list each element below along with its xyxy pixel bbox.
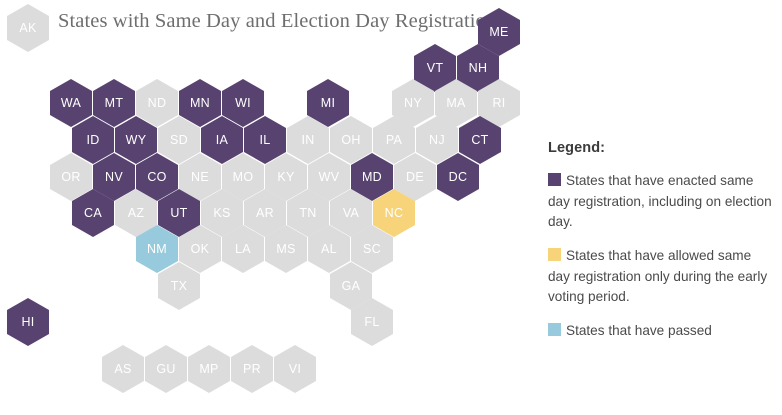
hex-label-id: ID: [86, 134, 99, 147]
legend-heading: Legend:: [548, 140, 774, 156]
hex-label-md: MD: [362, 171, 382, 184]
hex-ak[interactable]: AK: [7, 4, 49, 52]
hex-label-or: OR: [61, 171, 80, 184]
hex-label-mp: MP: [199, 363, 218, 376]
hex-label-pr: PR: [243, 363, 261, 376]
hex-label-la: LA: [235, 243, 251, 256]
hex-label-ga: GA: [342, 280, 361, 293]
legend-swatch-early-voting: [548, 248, 561, 261]
hex-label-ct: CT: [471, 134, 488, 147]
hex-label-nm: NM: [147, 243, 167, 256]
hex-label-hi: HI: [21, 316, 34, 329]
hex-pr[interactable]: PR: [231, 345, 273, 393]
legend-item-2: States that have allowed same day regist…: [548, 246, 774, 308]
hex-label-nj: NJ: [429, 134, 445, 147]
hex-label-as: AS: [114, 363, 131, 376]
hex-label-wv: WV: [319, 171, 340, 184]
hex-label-mo: MO: [233, 171, 254, 184]
hex-label-co: CO: [147, 171, 166, 184]
hex-label-ia: IA: [216, 134, 228, 147]
legend-item-label-1: States that have enacted same day regist…: [548, 173, 772, 229]
hex-label-pa: PA: [386, 134, 402, 147]
hex-tile-map: AKMEVTNHWAMTNDMNWIMINYMARIIDWYSDIAILINOH…: [0, 0, 530, 415]
hex-label-wa: WA: [61, 97, 81, 110]
hex-as[interactable]: AS: [102, 345, 144, 393]
hex-label-al: AL: [321, 243, 337, 256]
hex-label-wi: WI: [235, 97, 251, 110]
hex-label-vi: VI: [289, 363, 301, 376]
hex-label-ca: CA: [84, 207, 102, 220]
hex-mp[interactable]: MP: [188, 345, 230, 393]
hex-label-sd: SD: [170, 134, 188, 147]
legend-item-1: States that have enacted same day regist…: [548, 171, 774, 233]
hex-label-az: AZ: [128, 207, 145, 220]
hex-label-nv: NV: [105, 171, 123, 184]
hex-hi[interactable]: HI: [7, 298, 49, 346]
hex-label-oh: OH: [341, 134, 360, 147]
legend-item-3: States that have passed: [548, 321, 774, 342]
hex-label-il: IL: [259, 134, 270, 147]
hex-label-nd: ND: [148, 97, 167, 110]
hex-label-wy: WY: [126, 134, 147, 147]
hex-label-ny: NY: [404, 97, 422, 110]
hex-label-ri: RI: [492, 97, 505, 110]
hex-label-mi: MI: [321, 97, 336, 110]
hex-label-in: IN: [301, 134, 314, 147]
hex-label-ks: KS: [213, 207, 230, 220]
hex-label-ms: MS: [276, 243, 295, 256]
hex-label-nc: NC: [385, 207, 404, 220]
hex-label-nh: NH: [469, 62, 488, 75]
hex-label-dc: DC: [449, 171, 468, 184]
hex-label-ne: NE: [191, 171, 209, 184]
hex-label-sc: SC: [363, 243, 381, 256]
hex-label-fl: FL: [364, 316, 379, 329]
hex-label-tn: TN: [299, 207, 316, 220]
legend: Legend: States that have enacted same da…: [548, 140, 774, 355]
legend-swatch-passed: [548, 323, 561, 336]
legend-item-label-2: States that have allowed same day regist…: [548, 248, 767, 304]
hex-label-ky: KY: [277, 171, 294, 184]
hex-label-ar: AR: [256, 207, 274, 220]
hex-label-me: ME: [489, 26, 508, 39]
hex-vi[interactable]: VI: [274, 345, 316, 393]
hex-label-tx: TX: [171, 280, 188, 293]
hex-label-mn: MN: [190, 97, 210, 110]
hex-label-gu: GU: [156, 363, 175, 376]
legend-item-label-3: States that have passed: [566, 323, 712, 338]
hex-label-ut: UT: [170, 207, 187, 220]
hex-label-mt: MT: [105, 97, 124, 110]
hex-label-vt: VT: [427, 62, 444, 75]
legend-item-list: States that have enacted same day regist…: [548, 171, 774, 342]
hex-label-va: VA: [343, 207, 359, 220]
cartogram-page: States with Same Day and Election Day Re…: [0, 0, 782, 415]
hex-wa[interactable]: WA: [50, 79, 92, 127]
hex-gu[interactable]: GU: [145, 345, 187, 393]
legend-swatch-enacted: [548, 173, 561, 186]
hex-label-de: DE: [406, 171, 424, 184]
hex-label-ok: OK: [191, 243, 210, 256]
hex-label-ak: AK: [19, 22, 36, 35]
hex-label-ma: MA: [446, 97, 465, 110]
